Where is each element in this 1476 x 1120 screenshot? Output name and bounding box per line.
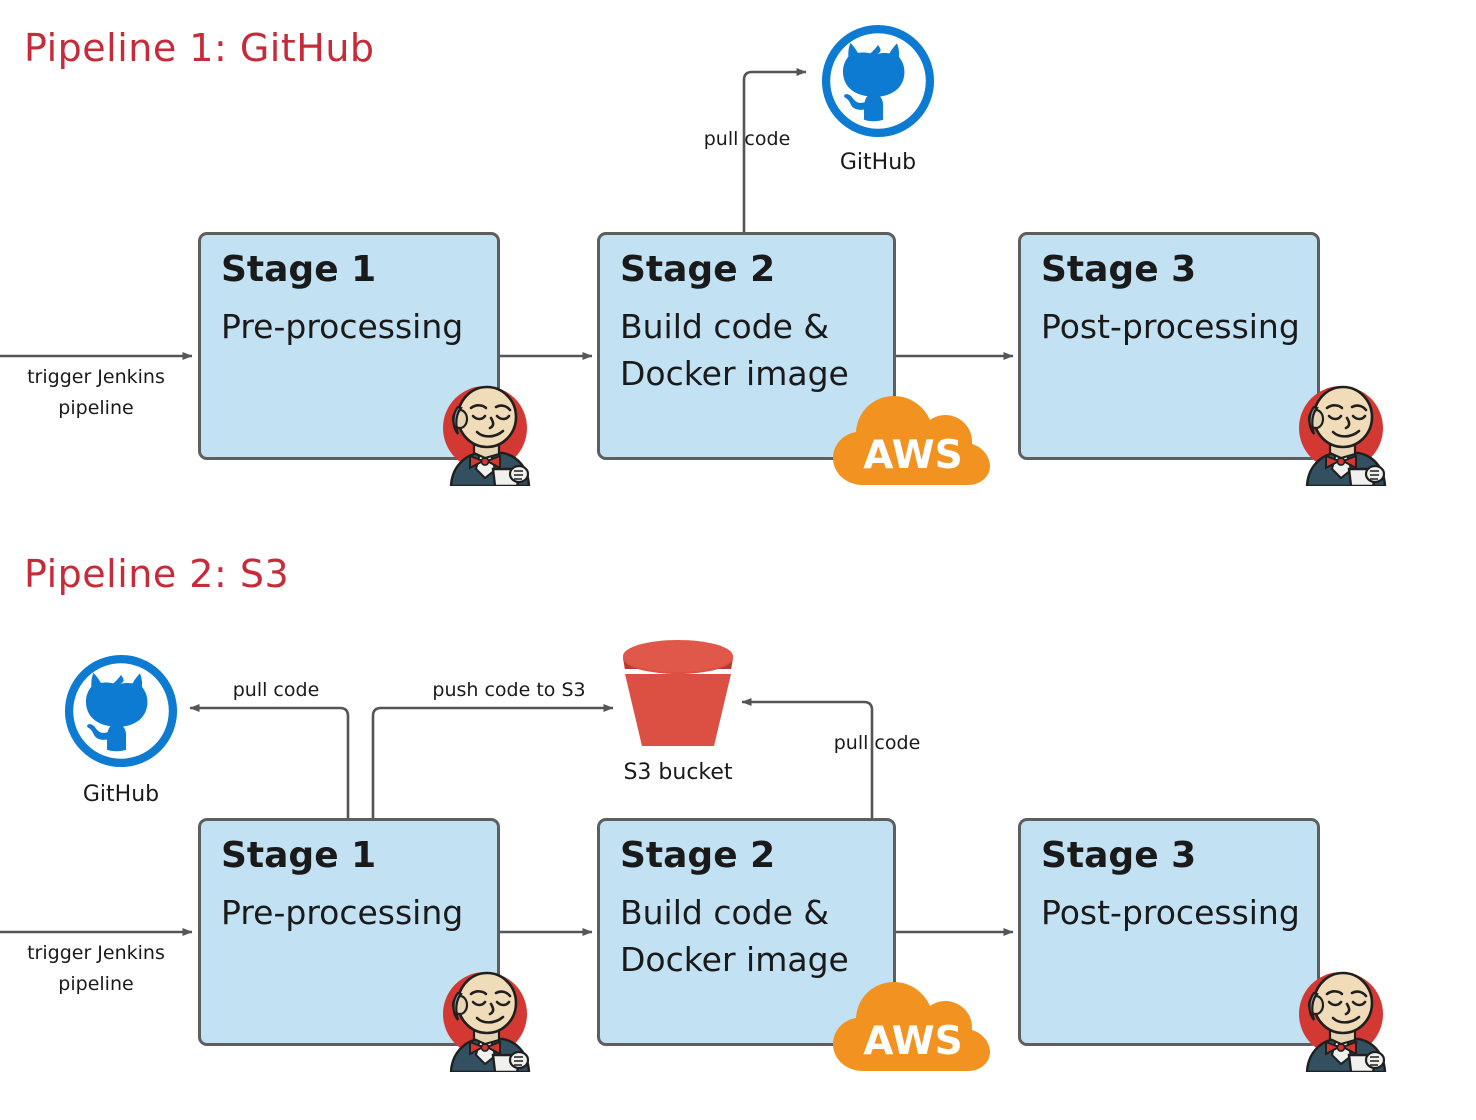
pipeline-2-stage-3-box[interactable]: Stage 3 Post-processing <box>1018 818 1320 1046</box>
github-icon[interactable] <box>819 22 937 140</box>
pipeline-1-stage-3-title: Stage 3 <box>1041 249 1196 290</box>
pipeline-2-stage-1-desc: Pre-processing <box>221 889 463 936</box>
github-icon[interactable] <box>62 652 180 770</box>
pipeline-2-title: Pipeline 2: S3 <box>24 552 289 596</box>
s3-bucket-label: S3 bucket <box>600 760 756 785</box>
jenkins-butler-icon-p1-s1-wrap <box>433 374 543 486</box>
jenkins-butler-icon-p2-s3-wrap <box>1289 960 1399 1072</box>
pipeline-2-stage-2-desc: Build code & Docker image <box>620 889 849 983</box>
pipeline-2-stage-3-desc: Post-processing <box>1041 889 1300 936</box>
pipeline-1-stage-3-desc: Post-processing <box>1041 303 1300 350</box>
github-icon-p2-wrap[interactable] <box>62 652 180 770</box>
jenkins-butler-icon-p2-s1-wrap <box>433 960 543 1072</box>
jenkins-butler-icon <box>433 960 543 1072</box>
aws-cloud-icon-p1-wrap: AWS <box>833 385 990 486</box>
aws-cloud-icon: AWS <box>833 971 990 1072</box>
jenkins-butler-icon <box>1289 374 1399 486</box>
pipeline-2-stage-2-title: Stage 2 <box>620 835 775 876</box>
pipeline-1-stage-1-title: Stage 1 <box>221 249 376 290</box>
github-label-p2: GitHub <box>43 782 199 807</box>
pipeline-1-title: Pipeline 1: GitHub <box>24 26 375 70</box>
edge-label-trigger-p2: trigger Jenkins pipeline <box>6 938 186 1000</box>
pipeline-2-stage-1-title: Stage 1 <box>221 835 376 876</box>
pipeline-1-stage-1-desc: Pre-processing <box>221 303 463 350</box>
jenkins-butler-icon-p1-s3-wrap <box>1289 374 1399 486</box>
aws-cloud-label: AWS <box>863 1019 963 1064</box>
edge-label-pull-code-s3-p2: pull code <box>812 728 942 759</box>
jenkins-butler-icon <box>1289 960 1399 1072</box>
edge-label-trigger-p1: trigger Jenkins pipeline <box>6 362 186 424</box>
aws-cloud-icon-p2-wrap: AWS <box>833 971 990 1072</box>
s3-bucket-icon[interactable] <box>613 638 743 758</box>
pipeline-2-stage-3-title: Stage 3 <box>1041 835 1196 876</box>
pipeline-1-stage-2-title: Stage 2 <box>620 249 775 290</box>
aws-cloud-icon: AWS <box>833 385 990 486</box>
s3-bucket-icon-wrap[interactable] <box>613 638 743 758</box>
pipeline-1-stage-3-box[interactable]: Stage 3 Post-processing <box>1018 232 1320 460</box>
jenkins-butler-icon <box>433 374 543 486</box>
edge-stage1-s3-p2 <box>373 708 613 818</box>
edge-label-pull-code-github-p2: pull code <box>208 675 344 706</box>
edge-label-push-code-s3-p2: push code to S3 <box>404 675 614 706</box>
edge-stage1-github-p2 <box>190 708 348 818</box>
github-icon-p1-wrap[interactable] <box>819 22 937 140</box>
pipeline-1-stage-2-desc: Build code & Docker image <box>620 303 849 397</box>
github-label-p1: GitHub <box>800 150 956 175</box>
edge-stage2-s3-p2 <box>742 702 872 818</box>
aws-cloud-label: AWS <box>863 433 963 478</box>
